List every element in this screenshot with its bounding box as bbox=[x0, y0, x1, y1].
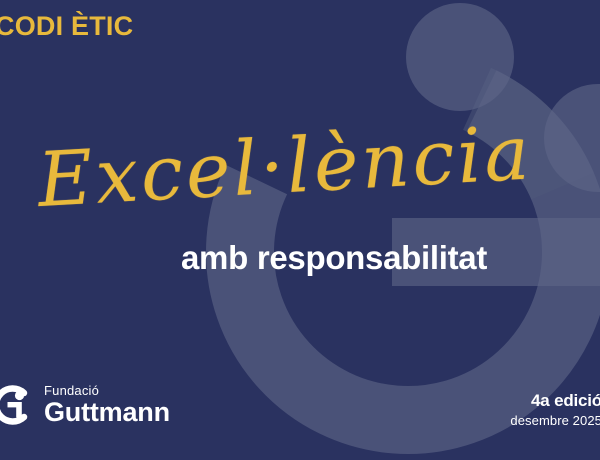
headline-script-excellencia: Excel·lència bbox=[36, 117, 509, 218]
guttmann-logo-mark-icon bbox=[0, 382, 34, 428]
brand-lockup: Fundació Guttmann bbox=[0, 382, 170, 428]
edition-date: desembre 2025 bbox=[510, 412, 600, 430]
edition-title: 4a edició bbox=[510, 391, 600, 411]
brand-fundacio-label: Fundació bbox=[44, 384, 170, 397]
kicker-codi-etic: CODI ÈTIC bbox=[0, 12, 133, 42]
codi-etic-banner: CODI ÈTIC Excel·lència amb responsabilit… bbox=[0, 0, 600, 460]
brand-text: Fundació Guttmann bbox=[44, 384, 170, 426]
brand-guttmann-label: Guttmann bbox=[44, 399, 170, 426]
edition-block: 4a edició desembre 2025 bbox=[510, 391, 600, 430]
headline-amb-responsabilitat: amb responsabilitat bbox=[181, 240, 487, 276]
